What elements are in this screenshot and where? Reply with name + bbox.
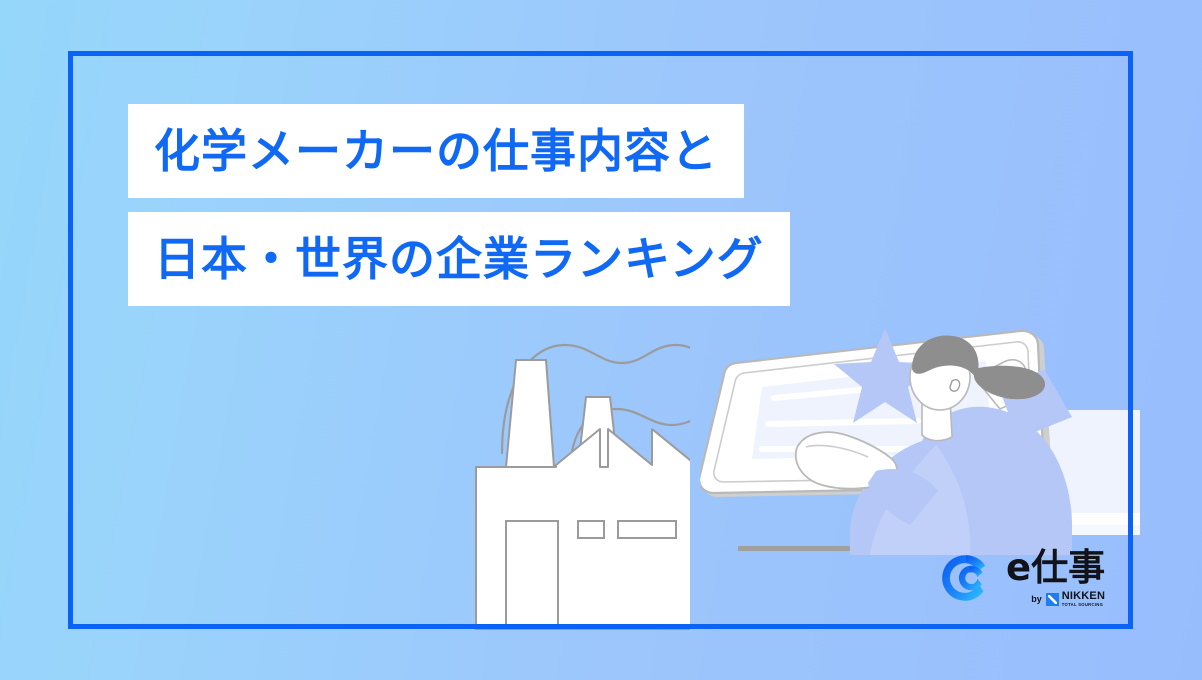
factory-illustration: [460, 325, 690, 635]
logo-by-row: by NIKKEN TOTAL SOURCING: [1031, 591, 1105, 607]
nikken-name: NIKKEN: [1062, 591, 1105, 602]
tablet-scene: [700, 325, 1140, 560]
headline-line-2: 日本・世界の企業ランキング: [128, 212, 790, 306]
banner-canvas: 化学メーカーの仕事内容と 日本・世界の企業ランキング e仕事 by: [0, 0, 1202, 680]
logo-text: e仕事 by NIKKEN TOTAL SOURCING: [1006, 548, 1105, 607]
nikken-words: NIKKEN TOTAL SOURCING: [1062, 591, 1105, 607]
divider-bar: [738, 546, 850, 551]
logo-by-label: by: [1031, 594, 1042, 604]
e-spiral-icon: [938, 550, 994, 606]
logo-wordmark: e仕事: [1006, 548, 1105, 588]
headline-line-1: 化学メーカーの仕事内容と: [128, 104, 744, 198]
nikken-square-icon: [1046, 593, 1059, 606]
headline-block: 化学メーカーの仕事内容と 日本・世界の企業ランキング: [128, 104, 790, 306]
brand-logo[interactable]: e仕事 by NIKKEN TOTAL SOURCING: [938, 548, 1105, 607]
nikken-tagline: TOTAL SOURCING: [1062, 603, 1105, 607]
nikken-badge: NIKKEN TOTAL SOURCING: [1046, 591, 1105, 607]
